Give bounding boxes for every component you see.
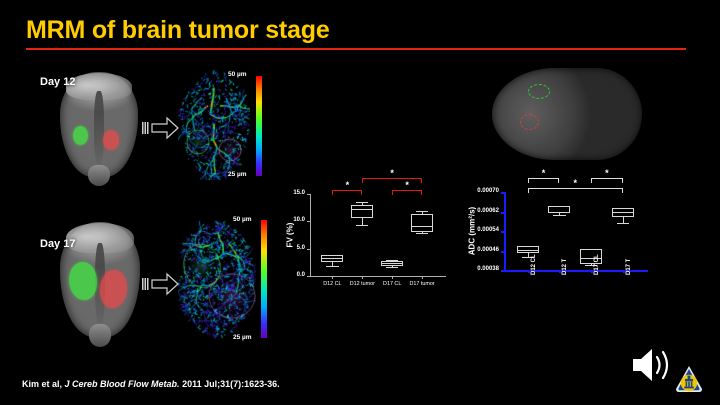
brain-stem xyxy=(88,165,110,186)
y-axis-title: FV (%) xyxy=(286,223,295,248)
y-axis-tick-label: 0.00062 xyxy=(477,208,499,214)
bracket-leg-right xyxy=(622,178,623,183)
brain-stem xyxy=(89,324,111,347)
x-axis-category-label: D17 T xyxy=(626,259,632,275)
bracket-leg-left xyxy=(392,190,393,195)
y-axis-tick xyxy=(501,270,504,272)
bracket-leg-left xyxy=(528,188,529,193)
day12-colorbar xyxy=(256,76,262,176)
x-axis-category-label: D12 tumor xyxy=(347,281,377,287)
x-axis-tick xyxy=(528,270,530,273)
boxplot-d17-cl xyxy=(381,260,403,267)
x-axis-tick xyxy=(362,276,363,279)
whisker-cap-lower xyxy=(386,267,398,268)
y-axis-tick-label: 15.0 xyxy=(293,190,305,196)
y-axis-tick-label: 0.00046 xyxy=(477,247,499,253)
bracket-bar xyxy=(332,190,362,191)
arrow-hatch-bars xyxy=(142,278,149,290)
day12-colorbar-max-label: 50 µm xyxy=(228,71,247,78)
significance-star: * xyxy=(542,170,546,176)
slide-root: MRM of brain tumor stage Day 12 50 µm 25… xyxy=(0,0,720,405)
y-axis-tick-label: 0.00070 xyxy=(477,188,499,194)
citation-authors: Kim et al, xyxy=(22,379,62,389)
day12-label: Day 12 xyxy=(40,76,75,88)
bracket-bar xyxy=(591,178,623,179)
whisker-cap-lower xyxy=(326,266,338,267)
bracket-bar xyxy=(528,178,560,179)
significance-star: * xyxy=(390,170,394,176)
boxplot-d17-tumor xyxy=(411,211,433,233)
whisker-cap-lower xyxy=(617,223,629,224)
boxplot-d12-cl xyxy=(321,255,343,266)
day12-colorbar-min-label: 25 µm xyxy=(228,171,247,178)
day17-colorbar xyxy=(261,220,267,338)
bracket-leg-right xyxy=(361,190,362,195)
y-axis-line xyxy=(504,192,506,270)
y-axis-line xyxy=(310,194,311,276)
box-iqr xyxy=(351,205,373,218)
median-line xyxy=(411,226,433,227)
x-axis-tick xyxy=(422,276,423,279)
bracket-leg-right xyxy=(421,190,422,195)
whisker-cap-lower xyxy=(356,225,368,226)
significance-bracket: * xyxy=(528,178,560,183)
day17-colorbar-min-label: 25 µm xyxy=(233,334,252,341)
median-line xyxy=(612,212,634,213)
y-axis-tick-label: 0.00038 xyxy=(477,266,499,272)
bracket-leg-left xyxy=(332,190,333,195)
citation: Kim et al, J Cereb Blood Flow Metab. 201… xyxy=(22,379,280,389)
bracket-leg-left xyxy=(591,178,592,183)
bracket-bar xyxy=(392,190,422,191)
x-axis-category-label: D12 CL xyxy=(531,254,537,275)
institution-shield-logo xyxy=(674,364,704,399)
bracket-leg-right xyxy=(558,178,559,183)
y-axis-tick xyxy=(307,276,310,277)
day12-vascular-image xyxy=(178,70,250,180)
arrow-right-icon xyxy=(151,116,179,145)
x-axis-category-label: D17 CL xyxy=(594,254,600,275)
whisker-cap-upper xyxy=(416,211,428,212)
roi-outline-red xyxy=(520,114,539,130)
x-axis-tick xyxy=(623,270,625,273)
boxplot-d17-t xyxy=(612,208,634,223)
median-line xyxy=(351,209,373,210)
whisker-lower xyxy=(362,218,363,225)
roi-contralateral-green xyxy=(73,126,88,145)
y-axis-tick xyxy=(501,192,504,194)
y-axis-tick-label: 0.00054 xyxy=(477,227,499,233)
x-axis-tick xyxy=(591,270,593,273)
y-axis-tick xyxy=(307,249,310,250)
citation-journal: J Cereb Blood Flow Metab. xyxy=(65,379,180,389)
significance-bracket: * xyxy=(332,190,362,195)
whisker-cap-upper xyxy=(356,202,368,203)
x-axis-category-label: D17 CL xyxy=(377,281,407,287)
y-axis-tick-label: 5.0 xyxy=(297,245,305,251)
y-axis-tick xyxy=(501,251,504,253)
y-axis-tick-label: 10.0 xyxy=(293,217,305,223)
axial-brain-image xyxy=(492,68,642,160)
y-axis-tick xyxy=(307,194,310,195)
title-underline xyxy=(26,48,686,50)
whisker-cap-lower xyxy=(553,215,565,216)
significance-star: * xyxy=(346,182,350,188)
significance-star: * xyxy=(605,170,609,176)
bracket-bar xyxy=(528,188,623,189)
x-axis-line xyxy=(310,276,446,277)
x-axis-category-label: D12 CL xyxy=(317,281,347,287)
significance-bracket: * xyxy=(362,178,422,183)
y-axis-title: ADC (mm²/s) xyxy=(468,207,477,255)
significance-star: * xyxy=(573,180,577,186)
fv-boxplot-chart: 0.05.010.015.0FV (%)D12 CLD12 tumorD17 C… xyxy=(284,164,454,314)
day17-colorbar-max-label: 50 µm xyxy=(233,216,252,223)
significance-bracket: * xyxy=(528,188,623,193)
bracket-leg-right xyxy=(421,178,422,183)
median-line xyxy=(321,258,343,259)
significance-bracket: * xyxy=(591,178,623,183)
day17-vascular-image xyxy=(178,218,256,340)
page-title: MRM of brain tumor stage xyxy=(26,16,330,45)
median-line xyxy=(381,263,403,264)
arrow-right-icon xyxy=(151,272,179,301)
boxplot-d12-t xyxy=(548,206,570,215)
box-iqr xyxy=(411,214,433,232)
median-line xyxy=(517,250,539,251)
adc-boxplot-chart: 0.000380.000460.000540.000620.00070ADC (… xyxy=(458,166,658,318)
bracket-leg-left xyxy=(362,178,363,183)
bracket-leg-right xyxy=(622,188,623,193)
significance-bracket: * xyxy=(392,190,422,195)
x-axis-tick xyxy=(392,276,393,279)
bracket-bar xyxy=(362,178,422,179)
boxplot-d12-tumor xyxy=(351,202,373,225)
roi-outline-green xyxy=(528,84,550,99)
bracket-leg-left xyxy=(528,178,529,183)
arrow-hatch-bars xyxy=(142,122,149,134)
x-axis-category-label: D17 tumor xyxy=(407,281,437,287)
y-axis-tick-label: 0.0 xyxy=(297,272,305,278)
roi-contralateral-green xyxy=(69,262,97,300)
speaker-audio-icon[interactable] xyxy=(630,344,676,391)
day17-label: Day 17 xyxy=(40,238,75,250)
x-axis-tick xyxy=(332,276,333,279)
y-axis-tick xyxy=(307,221,310,222)
x-axis-category-label: D12 T xyxy=(562,259,568,275)
whisker-cap-lower xyxy=(416,233,428,234)
y-axis-tick xyxy=(501,212,504,214)
roi-tumor-red xyxy=(103,130,119,150)
y-axis-tick xyxy=(501,231,504,233)
brain-tissue xyxy=(492,68,642,160)
citation-details: 2011 Jul;31(7):1623-36. xyxy=(182,379,280,389)
